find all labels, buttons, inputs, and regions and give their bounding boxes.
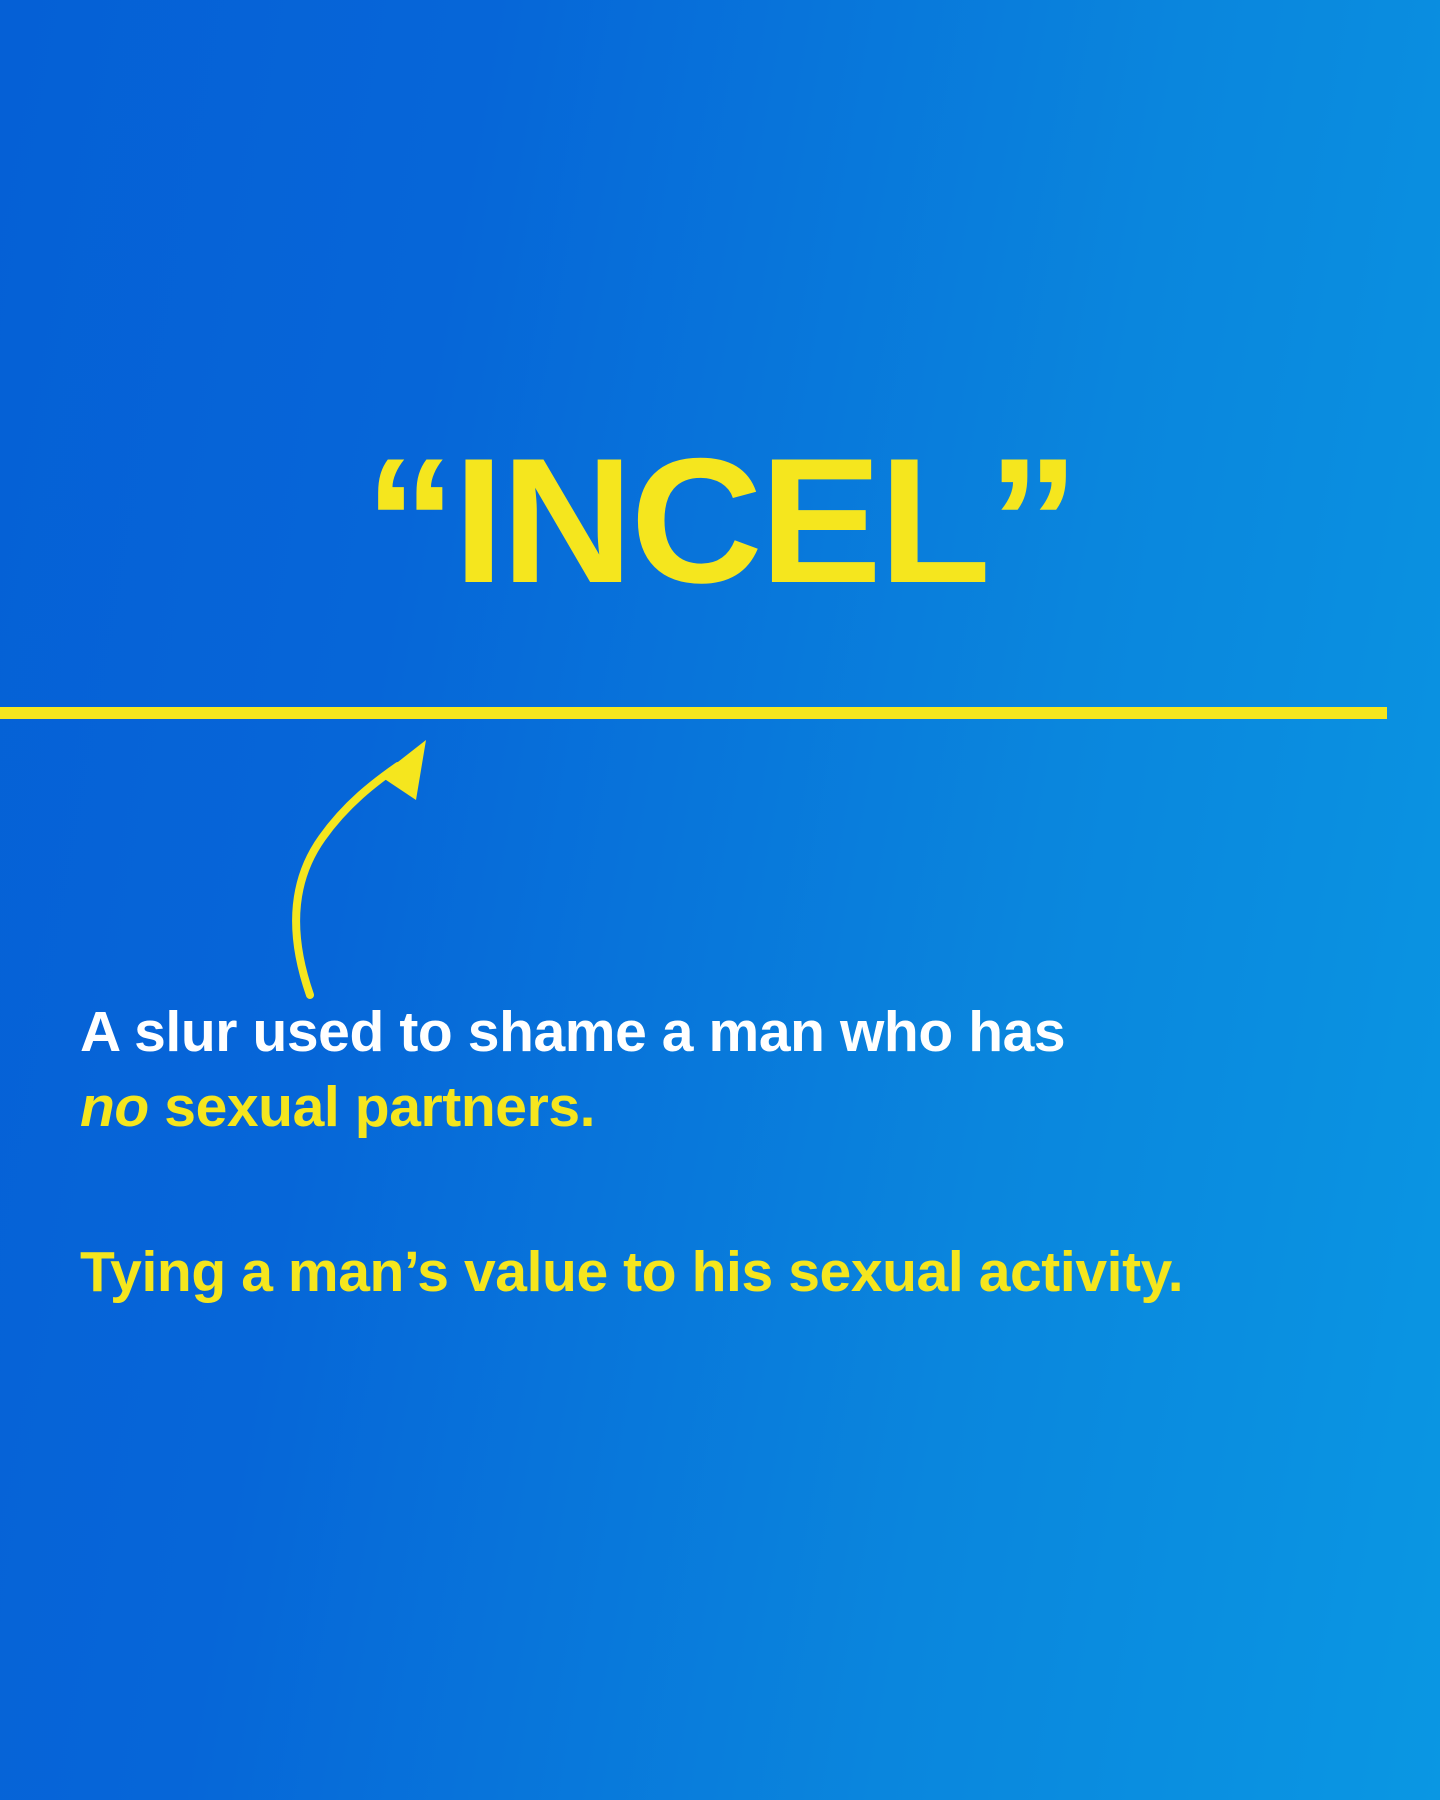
title-block: “INCEL” bbox=[0, 432, 1440, 610]
statement-text: Tying a man’s value to his sexual activi… bbox=[80, 1240, 1183, 1304]
definition-emphasis-word: no bbox=[80, 1075, 149, 1139]
statement-paragraph: Tying a man’s value to his sexual activi… bbox=[80, 1235, 1370, 1310]
definition-line-2-rest: sexual partners. bbox=[149, 1075, 595, 1139]
definition-paragraph: A slur used to shame a man who has no se… bbox=[80, 995, 1370, 1145]
horizontal-rule-divider bbox=[0, 707, 1387, 719]
social-card: “INCEL” A slur used to shame a man who h… bbox=[0, 0, 1440, 1800]
definition-line-1: A slur used to shame a man who has bbox=[80, 1000, 1065, 1064]
curved-arrow-icon bbox=[230, 720, 460, 1000]
page-title: “INCEL” bbox=[364, 432, 1076, 610]
